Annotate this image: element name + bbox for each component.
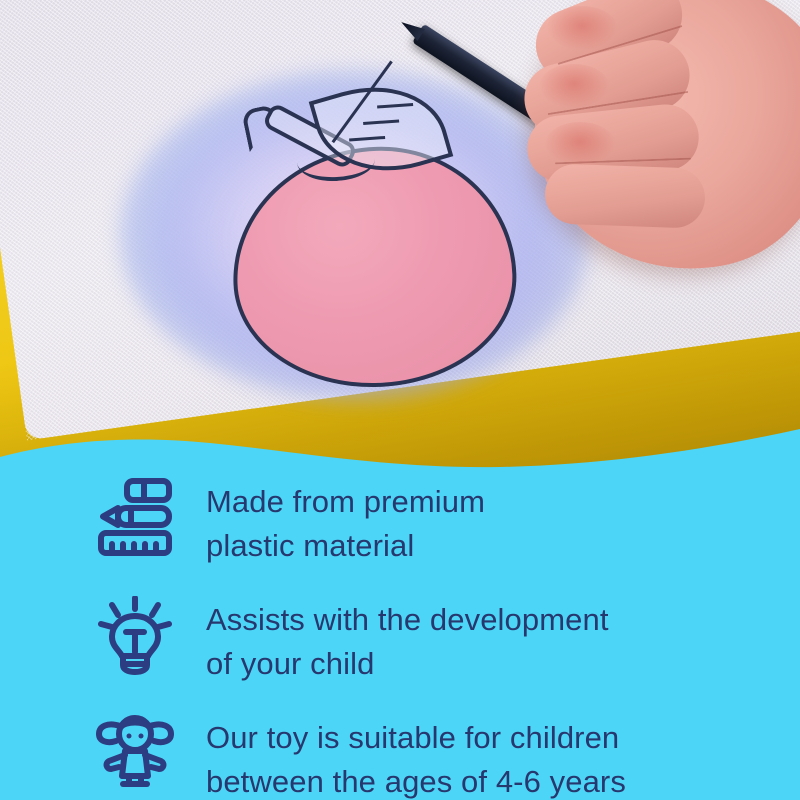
feature-list: Made from premium plastic material: [0, 478, 800, 800]
stationery-icon: [96, 478, 174, 556]
leaf-rib: [349, 136, 385, 142]
feature-text: Our toy is suitable for children between…: [206, 714, 626, 800]
knuckle: [539, 64, 609, 108]
apple-drawing: [215, 85, 545, 385]
knuckle: [547, 6, 617, 50]
child-hand: [505, 0, 800, 290]
feature-item-material: Made from premium plastic material: [0, 478, 800, 568]
feature-text: Assists with the development of your chi…: [206, 596, 609, 686]
feature-item-age: Our toy is suitable for children between…: [0, 714, 800, 800]
apple-body: [229, 142, 520, 392]
leaf-rib: [363, 119, 399, 125]
leaf-rib: [377, 103, 413, 109]
lightbulb-icon: [96, 596, 174, 676]
feature-item-development: Assists with the development of your chi…: [0, 596, 800, 686]
product-feature-graphic: Made from premium plastic material: [0, 0, 800, 800]
feature-text: Made from premium plastic material: [206, 478, 485, 568]
feature-panel: Made from premium plastic material: [0, 470, 800, 800]
finger: [544, 163, 706, 229]
product-photo: [0, 0, 800, 480]
doll-icon: [96, 714, 174, 790]
knuckle: [545, 122, 615, 166]
